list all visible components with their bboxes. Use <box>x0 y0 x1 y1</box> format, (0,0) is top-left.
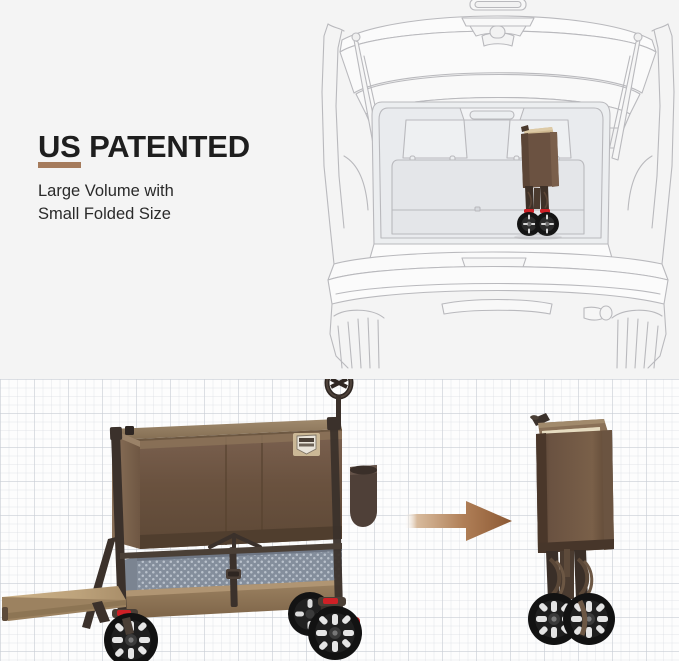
page-title: US PATENTED <box>38 131 328 166</box>
transform-arrow <box>404 497 514 545</box>
bottom-panel <box>0 379 679 661</box>
suv-open-trunk-line-drawing <box>312 0 679 370</box>
headline-rest: PATENTED <box>81 129 250 164</box>
headline-highlight-wrap: US <box>38 131 81 166</box>
subtitle: Large Volume with Small Folded Size <box>38 180 328 227</box>
cup-holder <box>350 465 377 527</box>
side-table <box>2 586 126 623</box>
headline-block: US PATENTED Large Volume with Small Fold… <box>38 131 328 226</box>
headline-underline <box>38 162 81 168</box>
folded-wheel-right <box>563 593 615 645</box>
wagon-unfolded <box>0 379 394 661</box>
top-panel: US PATENTED Large Volume with Small Fold… <box>0 0 679 379</box>
headline-highlight: US <box>38 129 81 164</box>
wagon-folded <box>512 401 638 646</box>
product-feature-image: US PATENTED Large Volume with Small Fold… <box>0 0 679 661</box>
brand-badge <box>293 433 320 456</box>
